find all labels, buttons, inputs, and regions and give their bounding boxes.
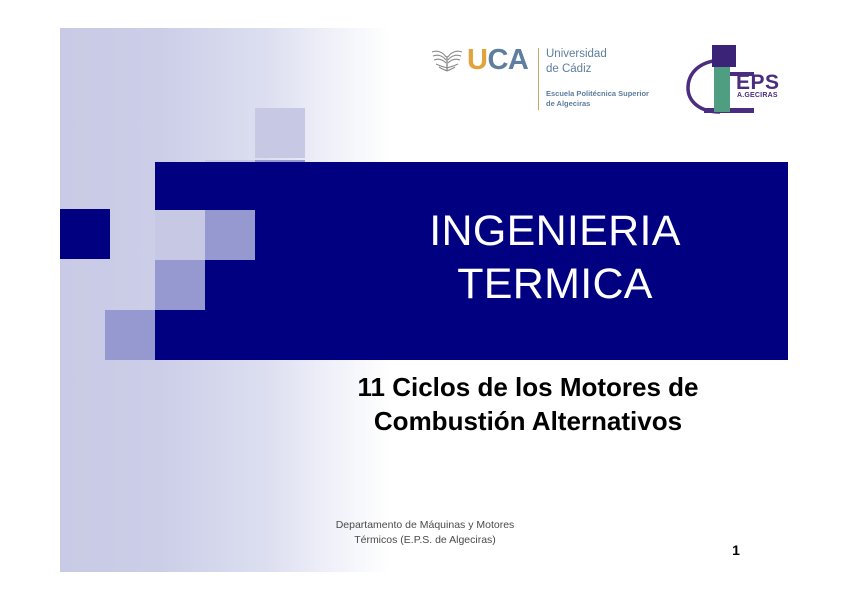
- eps-logo-title: EPS: [736, 72, 780, 93]
- decorative-square-light-1: [255, 108, 305, 158]
- uca-letters-ca: CA: [487, 44, 528, 76]
- slide-main-title: INGENIERIA TERMICA: [330, 205, 780, 312]
- uca-school-name: Escuela Politécnica Superior de Algecira…: [546, 89, 649, 109]
- uca-university-line-1: Universidad: [546, 47, 607, 62]
- slide-subtitle: 11 Ciclos de los Motores de Combustión A…: [268, 370, 788, 439]
- eps-logo-subtitle: A.GECIRAS: [737, 92, 778, 99]
- uca-school-line-2: de Algeciras: [546, 99, 649, 109]
- eps-algeciras-logo: EPS A.GECIRAS: [686, 42, 790, 120]
- page-number: 1: [724, 542, 748, 558]
- main-title-line-2: TERMICA: [330, 258, 780, 311]
- decorative-square-light-3: [155, 210, 205, 260]
- footer-line-1: Departamento de Máquinas y Motores: [285, 518, 565, 533]
- decorative-square-mid-3: [155, 260, 205, 310]
- uca-school-line-1: Escuela Politécnica Superior: [546, 89, 649, 99]
- uca-wings-emblem-icon: [430, 48, 464, 74]
- subtitle-line-2: Combustión Alternativos: [268, 404, 788, 438]
- uca-logo-mark-row: UCA: [430, 46, 528, 75]
- uca-divider-rule: [538, 48, 539, 110]
- decorative-square-mid-2: [205, 210, 255, 260]
- uca-letter-u: U: [467, 44, 487, 76]
- footer-line-2: Térmicos (E.P.S. de Algeciras): [285, 533, 565, 548]
- decorative-square-navy-1: [60, 209, 110, 259]
- uca-university-name: Universidad de Cádiz: [546, 47, 607, 77]
- decorative-square-mid-4: [105, 310, 155, 360]
- main-title-line-1: INGENIERIA: [330, 205, 780, 258]
- uca-logo: UCA Universidad de Cádiz Escuela Politéc…: [430, 46, 665, 112]
- slide-footer: Departamento de Máquinas y Motores Térmi…: [285, 518, 565, 548]
- uca-wordmark: UCA: [467, 46, 528, 75]
- uca-university-line-2: de Cádiz: [546, 62, 607, 77]
- subtitle-line-1: 11 Ciclos de los Motores de: [268, 370, 788, 404]
- presentation-slide: INGENIERIA TERMICA 11 Ciclos de los Moto…: [0, 0, 848, 599]
